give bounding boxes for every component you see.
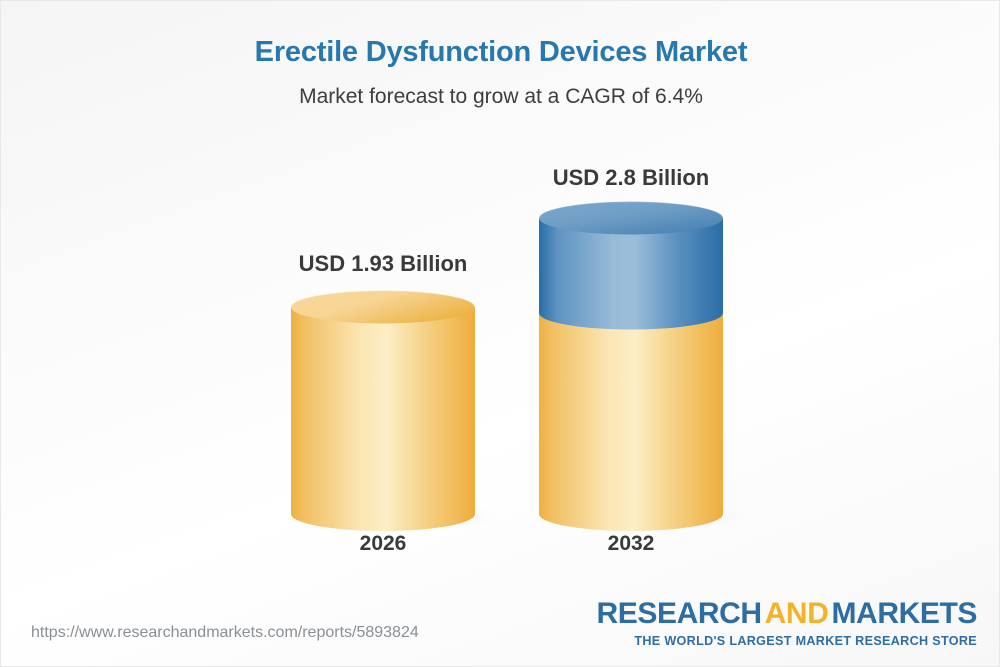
bar-chart-svg: [1, 1, 1000, 667]
bar-category-label-2026: 2026: [291, 532, 475, 556]
bar-2026[interactable]: [291, 291, 475, 532]
chart-plot-area: [1, 1, 1000, 667]
logo-tagline: THE WORLD'S LARGEST MARKET RESEARCH STOR…: [597, 635, 977, 648]
logo-word-markets: MARKETS: [831, 597, 977, 630]
bar-2032[interactable]: [539, 202, 723, 532]
bar-value-label-2032: USD 2.8 Billion: [539, 165, 723, 191]
bar-category-label-2032: 2032: [539, 532, 723, 556]
bar-value-label-2026: USD 1.93 Billion: [291, 251, 475, 277]
brand-logo[interactable]: RESEARCHANDMARKETS THE WORLD'S LARGEST M…: [597, 599, 977, 648]
logo-word-and: AND: [762, 597, 832, 630]
logo-word-research: RESEARCH: [597, 597, 762, 630]
report-url[interactable]: https://www.researchandmarkets.com/repor…: [31, 624, 419, 642]
bar-2032-body-growth: [539, 218, 723, 330]
bar-2026-body: [291, 307, 475, 531]
infographic-canvas: Erectile Dysfunction Devices Market Mark…: [0, 0, 1000, 667]
bar-2032-body-base: [539, 313, 723, 531]
logo-wordmark: RESEARCHANDMARKETS: [597, 599, 977, 629]
